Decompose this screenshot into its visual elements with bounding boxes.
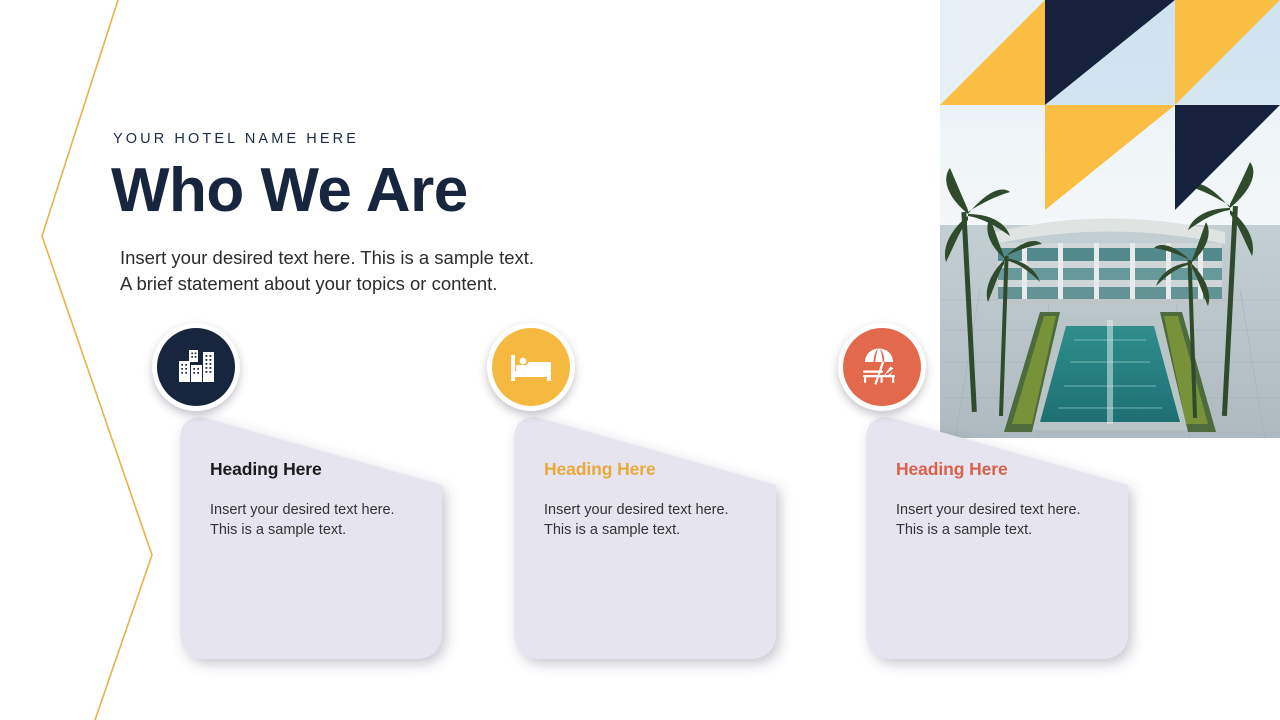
card-body-3-line-2: This is a sample text. (896, 520, 1081, 540)
card-heading-2: Heading Here (544, 459, 656, 480)
zigzag-line (42, 0, 152, 720)
eyebrow-label: YOUR HOTEL NAME HERE (113, 131, 359, 147)
feature-card-2[interactable]: Heading Here Insert your desired text he… (514, 417, 776, 659)
beach-umbrella-icon (861, 348, 903, 386)
buildings-icon (176, 349, 216, 385)
card-body-3: Insert your desired text here. This is a… (896, 500, 1081, 540)
card-body-2: Insert your desired text here. This is a… (544, 500, 729, 540)
card-body-2-line-2: This is a sample text. (544, 520, 729, 540)
intro-paragraph: Insert your desired text here. This is a… (120, 245, 534, 296)
card-body-3-line-1: Insert your desired text here. (896, 500, 1081, 520)
card-heading-1: Heading Here (210, 459, 322, 480)
card-body-1-line-1: Insert your desired text here. (210, 500, 395, 520)
feature-card-3[interactable]: Heading Here Insert your desired text he… (866, 417, 1128, 659)
intro-line-1: Insert your desired text here. This is a… (120, 245, 534, 271)
card-heading-3: Heading Here (896, 459, 1008, 480)
intro-line-2: A brief statement about your topics or c… (120, 271, 534, 297)
slide-canvas: YOUR HOTEL NAME HERE Who We Are Insert y… (0, 0, 1280, 720)
hero-photo (940, 0, 1280, 438)
card-body-2-line-1: Insert your desired text here. (544, 500, 729, 520)
hero-photo-graphic (940, 0, 1280, 438)
bed-icon (510, 351, 552, 383)
feature-card-1[interactable]: Heading Here Insert your desired text he… (180, 417, 442, 659)
card-body-1-line-2: This is a sample text. (210, 520, 395, 540)
page-title: Who We Are (111, 156, 468, 226)
feature-icon-badge-1[interactable] (152, 323, 240, 411)
card-body-1: Insert your desired text here. This is a… (210, 500, 395, 540)
feature-icon-badge-2[interactable] (487, 323, 575, 411)
feature-icon-badge-3[interactable] (838, 323, 926, 411)
